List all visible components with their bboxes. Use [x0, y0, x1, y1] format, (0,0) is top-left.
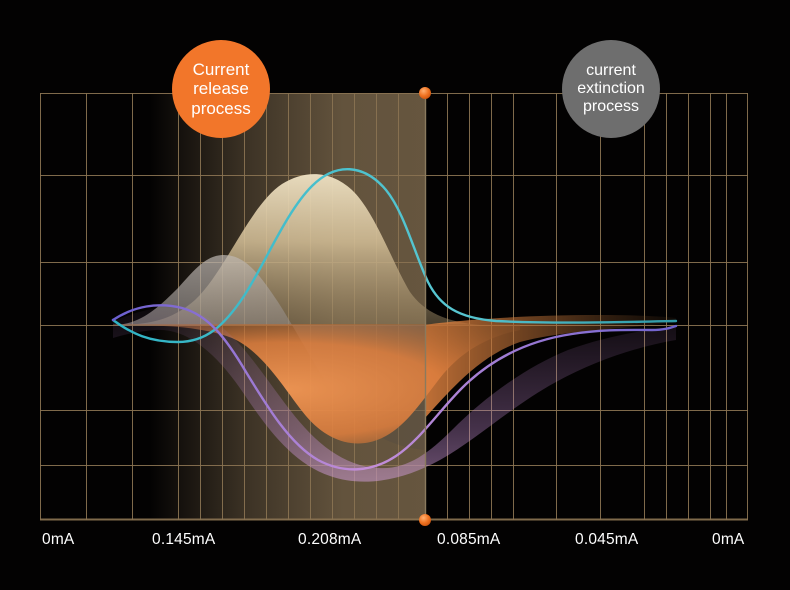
axis-label-5: 0mA — [712, 531, 744, 549]
badge-release-line-1: Current — [187, 60, 255, 79]
badge-extinction-line-2: extinction — [573, 80, 649, 98]
badge-release-line-3: process — [187, 99, 255, 118]
badge-current-release-process[interactable]: Current release process — [172, 40, 270, 138]
badge-release-line-2: release — [187, 79, 255, 98]
badge-extinction-line-3: process — [573, 98, 649, 116]
current-process-chart — [0, 0, 790, 590]
divider-top-dot[interactable] — [419, 87, 431, 99]
divider-bottom-dot[interactable] — [419, 514, 431, 526]
axis-label-0: 0mA — [42, 531, 74, 549]
axis-label-2: 0.208mA — [298, 531, 361, 549]
axis-label-1: 0.145mA — [152, 531, 215, 549]
axis-label-4: 0.045mA — [575, 531, 638, 549]
axis-label-3: 0.085mA — [437, 531, 500, 549]
badge-current-extinction-process[interactable]: current extinction process — [562, 40, 660, 138]
chart-canvas: Current release process current extincti… — [0, 0, 790, 590]
badge-extinction-line-1: current — [573, 62, 649, 80]
